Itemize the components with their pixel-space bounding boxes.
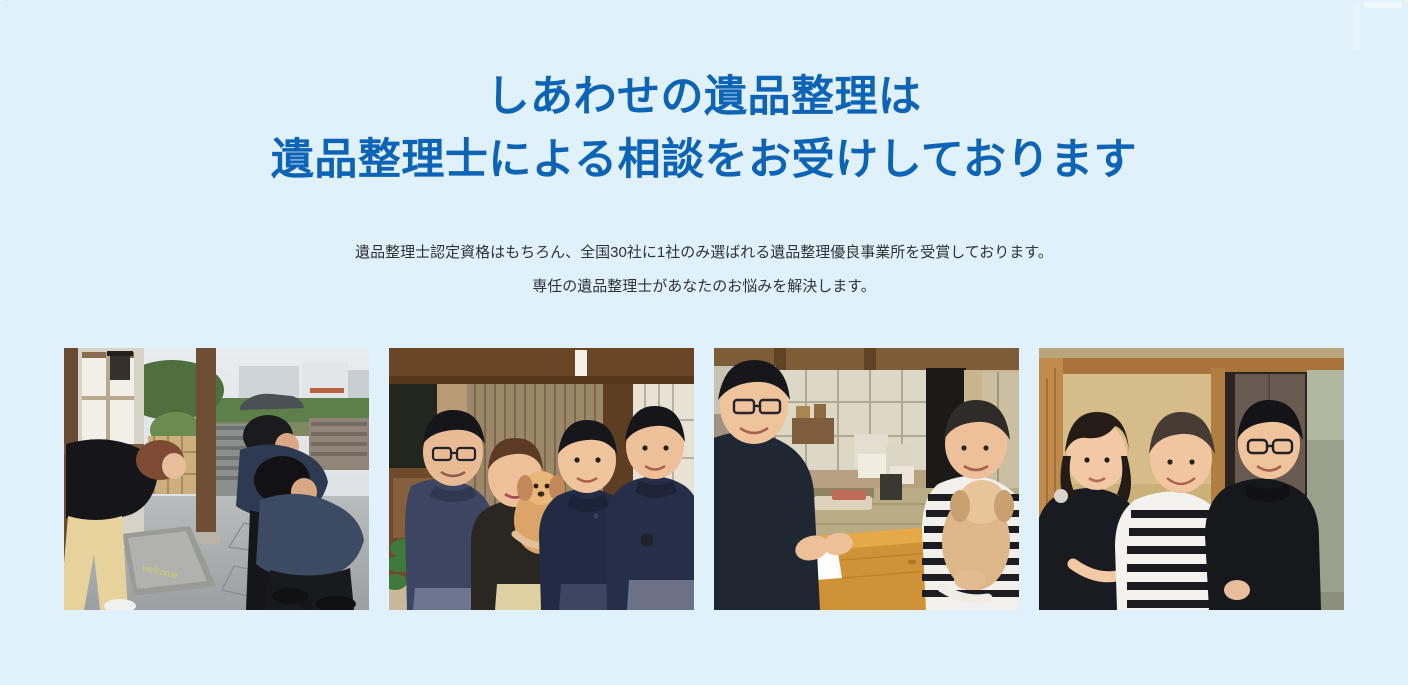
hero-section: しあわせの遺品整理は 遺品整理士による相談をお受けしております 遺品整理士認定資… bbox=[0, 0, 1408, 685]
hero-content: しあわせの遺品整理は 遺品整理士による相談をお受けしております 遺品整理士認定資… bbox=[0, 0, 1408, 685]
photo-team-with-client-and-puppy bbox=[389, 348, 694, 610]
photo-gallery: welcome bbox=[64, 348, 1344, 610]
hero-description: 遺品整理士認定資格はもちろん、全国30社に1社のみ選ばれる遺品整理優良事業所を受… bbox=[355, 245, 1053, 294]
headline-line-1: しあわせの遺品整理は bbox=[271, 66, 1137, 129]
description-line-1: 遺品整理士認定資格はもちろん、全国30社に1社のみ選ばれる遺品整理優良事業所を受… bbox=[355, 245, 1053, 260]
headline-line-2: 遺品整理士による相談をお受けしております bbox=[271, 129, 1137, 192]
photo-consultation-at-table bbox=[714, 348, 1019, 610]
photo-staff-bowing-at-entrance: welcome bbox=[64, 348, 369, 610]
page-title: しあわせの遺品整理は 遺品整理士による相談をお受けしております bbox=[271, 66, 1137, 192]
description-line-2: 専任の遺品整理士があなたのお悩みを解決します。 bbox=[355, 279, 1053, 294]
photo-staff-with-client-at-doorway bbox=[1039, 348, 1344, 610]
